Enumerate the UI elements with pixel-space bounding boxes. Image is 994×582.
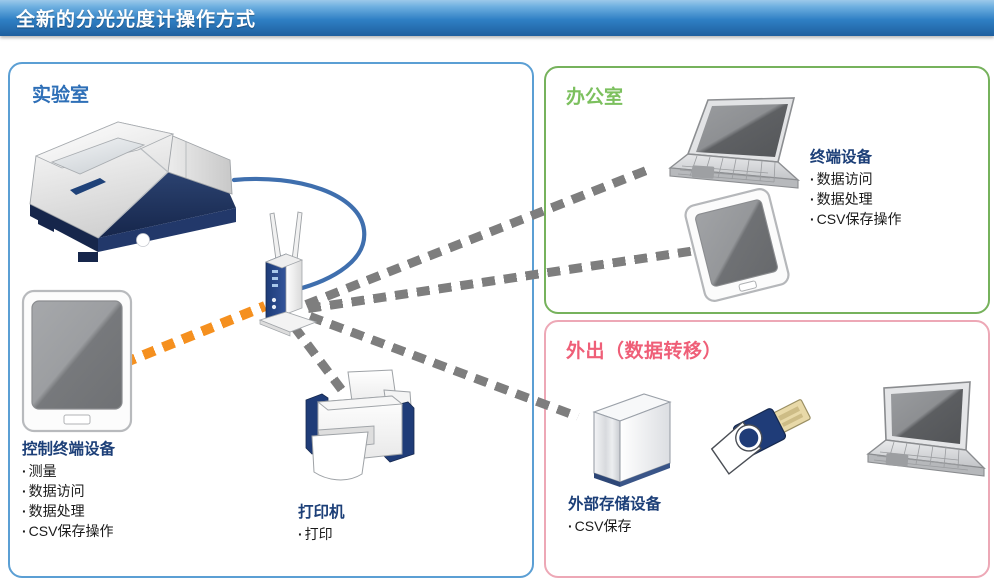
caption-item: CSV保存操作 [810,210,901,230]
page-title-bar: 全新的分光光度计操作方式 [0,0,994,36]
usb-flash-drive-icon [706,392,830,480]
caption-item: CSV保存操作 [22,522,115,542]
panel-title-office: 办公室 [566,82,623,109]
caption-item: 数据处理 [810,190,901,210]
caption-item: 测量 [22,462,115,482]
caption-heading: 控制终端设备 [22,437,115,459]
caption-item: 数据处理 [22,502,115,522]
caption-heading: 打印机 [298,500,345,522]
tablet-icon [20,288,134,434]
caption-item: 数据访问 [22,482,115,502]
caption-item: CSV保存 [568,517,661,537]
caption-external-storage: 外部存储设备 CSV保存 [568,492,661,537]
panel-title-laboratory: 实验室 [32,80,89,107]
printer-icon [288,368,430,492]
caption-item: 数据访问 [810,170,901,190]
panel-title-outside: 外出（数据转移） [566,336,722,363]
wireless-router-icon [252,208,344,336]
caption-terminal-device: 终端设备 数据访问 数据处理 CSV保存操作 [810,145,901,230]
tablet-icon [678,192,796,298]
external-hard-drive-icon [580,388,676,490]
caption-printer: 打印机 打印 [298,500,345,545]
laptop-icon [858,378,994,490]
caption-heading: 终端设备 [810,145,901,167]
caption-heading: 外部存储设备 [568,492,661,514]
caption-control-terminal: 控制终端设备 测量 数据访问 数据处理 CSV保存操作 [22,437,115,542]
page-title: 全新的分光光度计操作方式 [16,5,256,32]
caption-item: 打印 [298,525,345,545]
